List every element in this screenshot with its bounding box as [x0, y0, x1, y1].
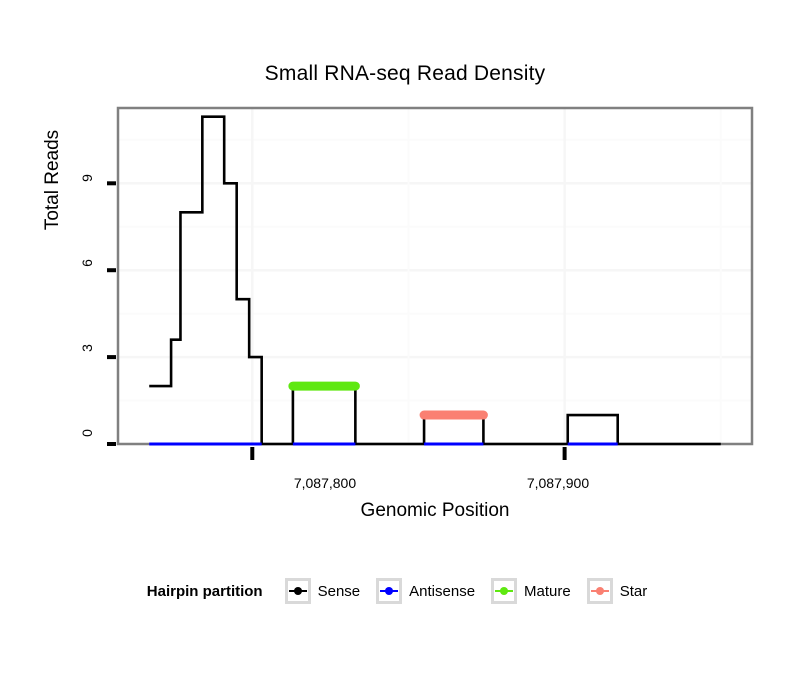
legend-key-sense-icon: [285, 578, 311, 604]
legend-key-mature-icon: [491, 578, 517, 604]
legend-key-dot: [500, 587, 508, 595]
legend-key-antisense-icon: [376, 578, 402, 604]
chart-figure: Small RNA-seq Read Density Total Reads G…: [0, 0, 810, 690]
legend-key-dot: [294, 587, 302, 595]
legend-label-sense: Sense: [318, 583, 361, 600]
legend-entry-sense[interactable]: Sense: [285, 578, 361, 604]
legend-title: Hairpin partition: [147, 583, 263, 600]
legend-label-star: Star: [620, 583, 648, 600]
legend-label-antisense: Antisense: [409, 583, 475, 600]
plot-panel-background: [118, 108, 752, 444]
legend: Hairpin partition Sense Antisense Mature: [0, 578, 810, 604]
legend-key-dot: [385, 587, 393, 595]
legend-key-dot: [596, 587, 604, 595]
legend-entry-star[interactable]: Star: [587, 578, 648, 604]
legend-label-mature: Mature: [524, 583, 571, 600]
legend-key-star-icon: [587, 578, 613, 604]
legend-entry-antisense[interactable]: Antisense: [376, 578, 475, 604]
legend-entry-mature[interactable]: Mature: [491, 578, 571, 604]
